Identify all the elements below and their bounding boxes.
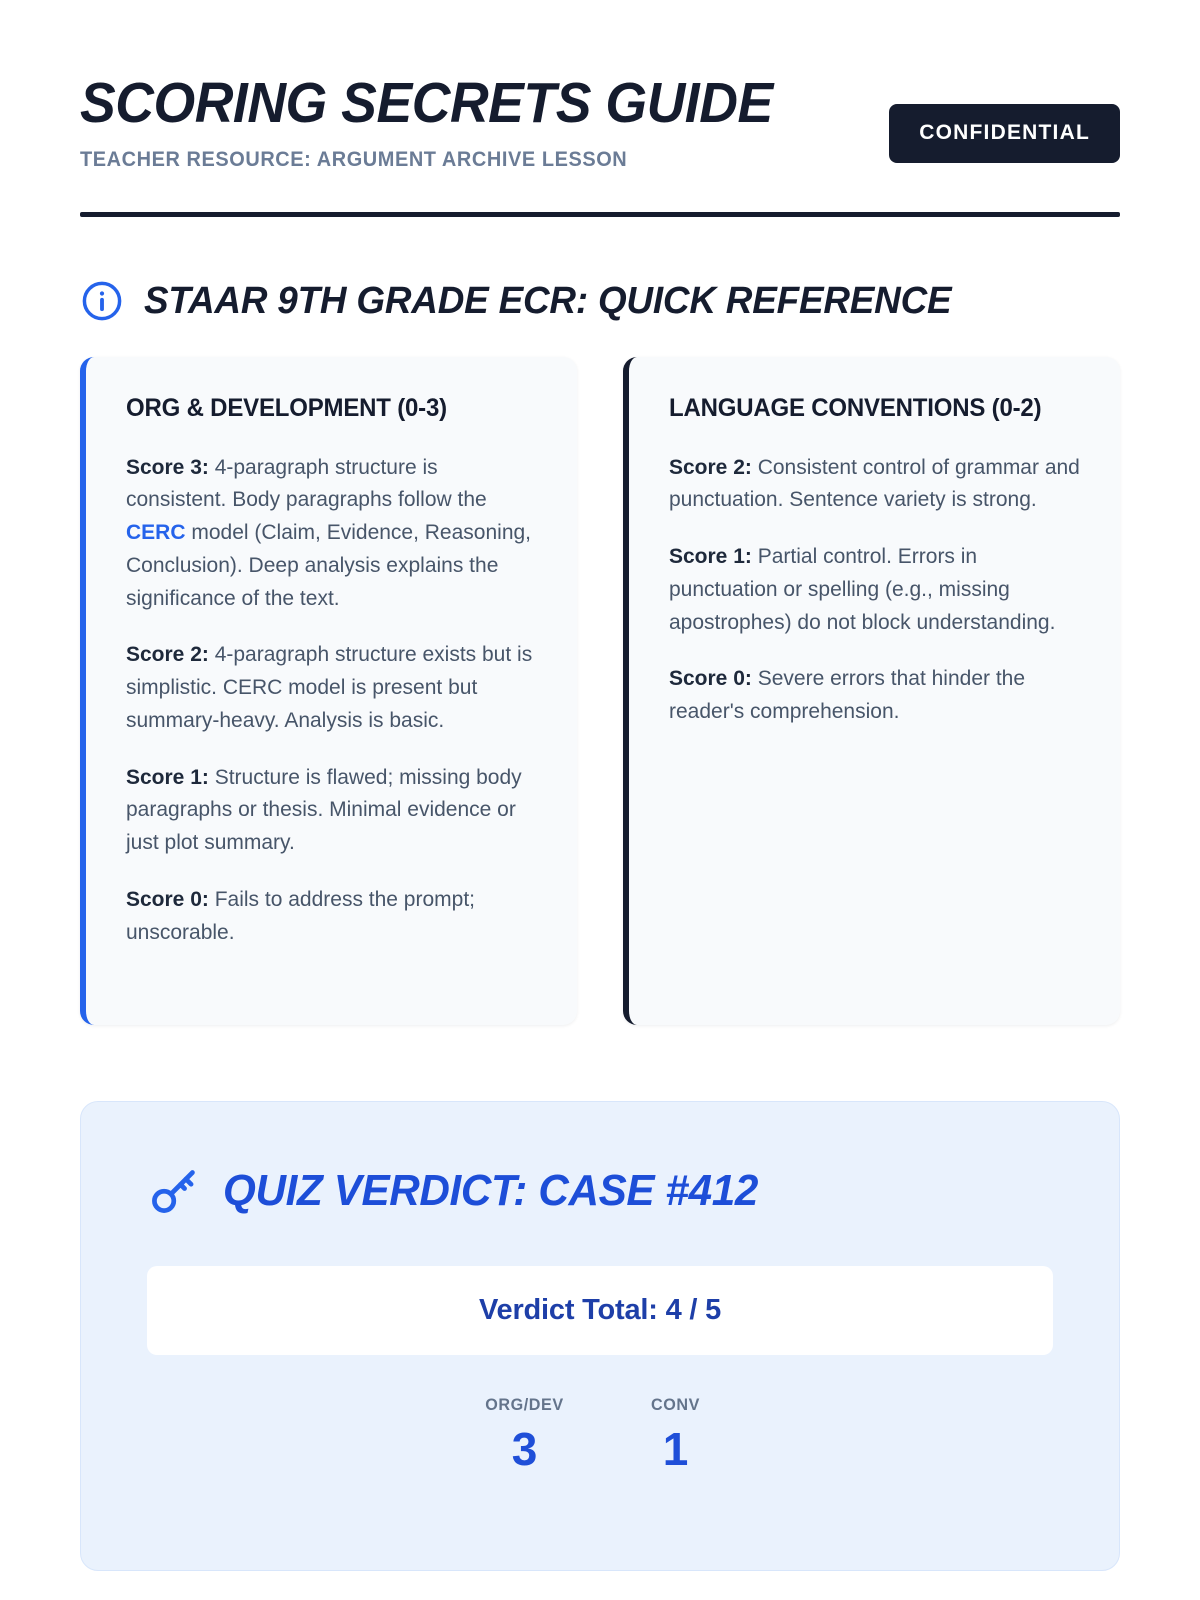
key-icon bbox=[147, 1164, 201, 1218]
score-cell-value: 3 bbox=[453, 1425, 596, 1473]
score-spacer bbox=[751, 1395, 902, 1473]
score-cell-label: CONV bbox=[608, 1395, 744, 1415]
confidential-badge: CONFIDENTIAL bbox=[889, 104, 1120, 163]
verdict-title: QUIZ VERDICT: CASE #412 bbox=[223, 1166, 758, 1216]
cerc-highlight: CERC bbox=[126, 521, 186, 544]
rubric-row: Score 1: Partial control. Errors in punc… bbox=[669, 541, 1080, 639]
section-title: STAAR 9TH GRADE ECR: QUICK REFERENCE bbox=[144, 280, 951, 323]
quiz-verdict-panel: QUIZ VERDICT: CASE #412 Verdict Total: 4… bbox=[80, 1101, 1120, 1571]
score-label: Score 0: bbox=[669, 667, 752, 690]
rubric-row: Score 0: Fails to address the prompt; un… bbox=[126, 884, 537, 950]
rubric-row: Score 0: Severe errors that hinder the r… bbox=[669, 663, 1080, 729]
header-divider bbox=[80, 212, 1120, 217]
verdict-total-text: Verdict Total: 4 / 5 bbox=[479, 1294, 721, 1326]
page-title: SCORING SECRETS GUIDE bbox=[80, 74, 773, 132]
rubric-row: Score 2: 4-paragraph structure exists bu… bbox=[126, 639, 537, 737]
score-text-after: model (Claim, Evidence, Reasoning, Concl… bbox=[126, 521, 531, 610]
score-cell-label: ORG/DEV bbox=[457, 1395, 593, 1415]
rubric-card-org-development: ORG & DEVELOPMENT (0-3) Score 3: 4-parag… bbox=[80, 357, 577, 1025]
scoring-guide-page: SCORING SECRETS GUIDE TEACHER RESOURCE: … bbox=[0, 0, 1200, 1600]
score-cell-value: 1 bbox=[604, 1425, 747, 1473]
verdict-total-box: Verdict Total: 4 / 5 bbox=[147, 1266, 1053, 1355]
rubric-row: Score 3: 4-paragraph structure is consis… bbox=[126, 452, 537, 616]
rubric-row: Score 1: Structure is flawed; missing bo… bbox=[126, 762, 537, 860]
rubric-card-heading: ORG & DEVELOPMENT (0-3) bbox=[126, 391, 521, 426]
verdict-header: QUIZ VERDICT: CASE #412 bbox=[147, 1164, 1053, 1218]
score-label: Score 1: bbox=[669, 545, 752, 568]
score-spacer bbox=[298, 1395, 449, 1473]
section-header: STAAR 9TH GRADE ECR: QUICK REFERENCE bbox=[80, 279, 1120, 323]
info-icon bbox=[80, 279, 124, 323]
rubric-card-language-conventions: LANGUAGE CONVENTIONS (0-2) Score 2: Cons… bbox=[623, 357, 1120, 1025]
score-label: Score 3: bbox=[126, 456, 209, 479]
page-header: SCORING SECRETS GUIDE TEACHER RESOURCE: … bbox=[80, 72, 1120, 172]
rubric-row: Score 2: Consistent control of grammar a… bbox=[669, 452, 1080, 518]
score-breakdown-grid: ORG/DEV 3 CONV 1 bbox=[147, 1395, 1053, 1473]
header-text-block: SCORING SECRETS GUIDE TEACHER RESOURCE: … bbox=[80, 72, 817, 172]
score-label: Score 2: bbox=[669, 456, 752, 479]
score-label: Score 0: bbox=[126, 888, 209, 911]
rubric-card-grid: ORG & DEVELOPMENT (0-3) Score 3: 4-parag… bbox=[80, 357, 1120, 1025]
score-spacer bbox=[902, 1395, 1053, 1473]
score-cell-org-dev: ORG/DEV 3 bbox=[449, 1395, 600, 1473]
page-subtitle: TEACHER RESOURCE: ARGUMENT ARCHIVE LESSO… bbox=[80, 148, 780, 172]
score-label: Score 2: bbox=[126, 643, 209, 666]
score-cell-conv: CONV 1 bbox=[600, 1395, 751, 1473]
score-label: Score 1: bbox=[126, 766, 209, 789]
rubric-card-heading: LANGUAGE CONVENTIONS (0-2) bbox=[669, 391, 1064, 426]
score-spacer bbox=[147, 1395, 298, 1473]
